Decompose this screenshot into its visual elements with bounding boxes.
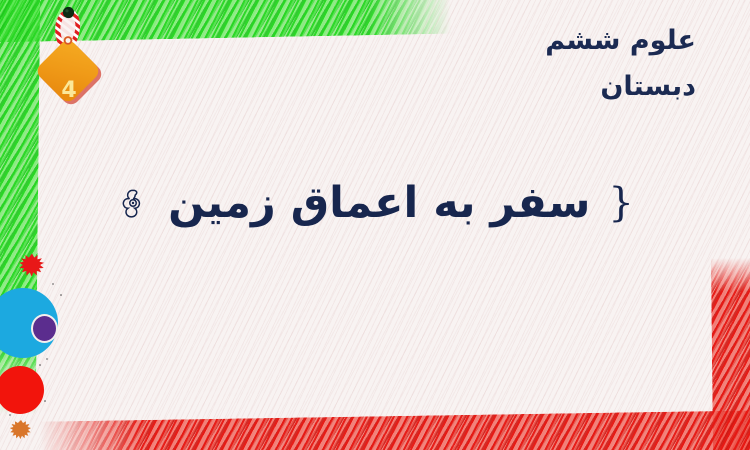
purple-circle-decoration [31,314,58,343]
slide-canvas: علوم ششم دبستان { سفر به اعماق زمین [0,0,750,450]
speck [44,400,46,402]
red-border-bottom [40,410,750,450]
red-circle-decoration [0,366,44,414]
header-line-school-level: دبستان [545,64,696,110]
speck [52,283,54,285]
speck [39,364,41,366]
page-title: سفر به اعماق زمین [168,178,590,228]
pin-head [63,7,74,18]
title-brace: { [608,180,633,226]
orange-splat-decoration [8,418,34,446]
header-block: علوم ششم دبستان [545,18,696,110]
red-border-right [711,258,750,450]
header-line-subject: علوم ششم [545,18,696,64]
title-row: { سفر به اعماق زمین [0,178,750,228]
red-splat-decoration [16,252,48,286]
flower-icon [116,186,150,220]
speck [46,358,48,360]
speck [9,414,11,416]
speck [60,294,62,296]
hanging-number-tag[interactable]: 4 [34,2,104,127]
